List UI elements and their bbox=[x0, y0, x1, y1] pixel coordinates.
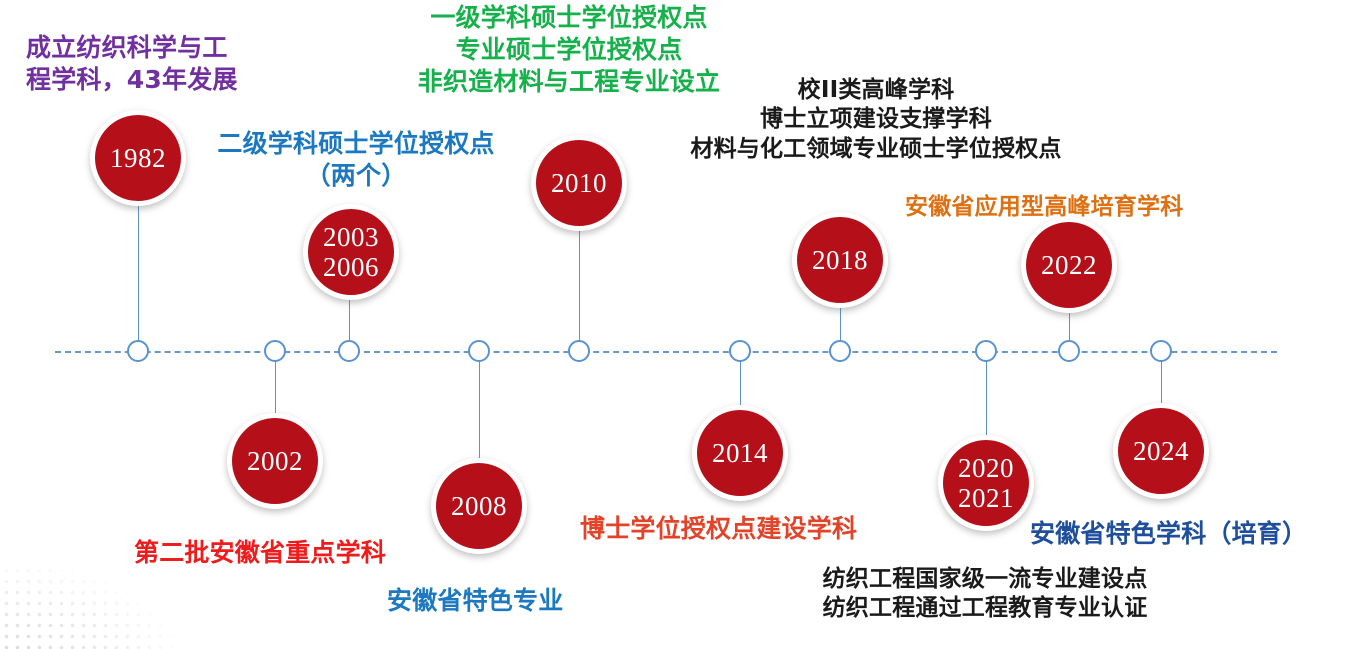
stem-2010 bbox=[579, 231, 580, 341]
milestone-bubble-2020-2021[interactable]: 2020 2021 bbox=[938, 435, 1034, 531]
milestone-bubble-2022[interactable]: 2022 bbox=[1021, 217, 1117, 313]
milestone-bubble-2010[interactable]: 2010 bbox=[531, 135, 627, 231]
timeline-node-1982[interactable] bbox=[127, 340, 149, 362]
year-value: 2010 bbox=[551, 168, 607, 198]
stem-2002 bbox=[275, 361, 276, 413]
year-value: 2018 bbox=[812, 245, 868, 275]
label-national-first-class: 纺织工程国家级一流专业建设点 纺织工程通过工程教育专业认证 bbox=[785, 565, 1185, 624]
timeline-node-2024[interactable] bbox=[1150, 340, 1172, 362]
year-value: 2002 bbox=[247, 446, 303, 476]
timeline-node-2003-2006[interactable] bbox=[338, 340, 360, 362]
label-peak-discipline: 校II类高峰学科 博士立项建设支撑学科 材料与化工领域专业硕士学位授权点 bbox=[636, 76, 1116, 164]
label-featured-discipline: 安徽省特色学科（培育） bbox=[1030, 518, 1347, 550]
stem-2014 bbox=[740, 361, 741, 405]
label-applied-peak: 安徽省应用型高峰培育学科 bbox=[905, 193, 1265, 222]
stem-2018 bbox=[840, 308, 841, 341]
timeline-node-2018[interactable] bbox=[829, 340, 851, 362]
label-featured-major: 安徽省特色专业 bbox=[387, 585, 647, 617]
milestone-bubble-1982[interactable]: 1982 bbox=[90, 110, 186, 206]
milestone-bubble-2003-2006[interactable]: 2003 2006 bbox=[303, 204, 399, 300]
timeline-node-2002[interactable] bbox=[264, 340, 286, 362]
year-value: 2024 bbox=[1133, 436, 1189, 466]
timeline-node-2014[interactable] bbox=[729, 340, 751, 362]
stem-2024 bbox=[1161, 361, 1162, 403]
milestone-bubble-2018[interactable]: 2018 bbox=[792, 212, 888, 308]
timeline-axis bbox=[55, 351, 1277, 353]
stem-1982 bbox=[138, 205, 139, 341]
stem-2003-2006 bbox=[349, 300, 350, 341]
year-value: 2014 bbox=[712, 438, 768, 468]
stem-2020-2021 bbox=[986, 361, 987, 435]
year-value: 2022 bbox=[1041, 250, 1097, 280]
timeline-diagram: 1982 2003 2006 2010 2018 2022 2002 2008 … bbox=[0, 0, 1347, 649]
timeline-node-2020-2021[interactable] bbox=[975, 340, 997, 362]
timeline-node-2008[interactable] bbox=[468, 340, 490, 362]
year-value: 2020 bbox=[958, 453, 1014, 483]
label-founding: 成立纺织科学与工 程学科，43年发展 bbox=[26, 32, 306, 96]
timeline-node-2022[interactable] bbox=[1058, 340, 1080, 362]
year-value: 2021 bbox=[958, 483, 1014, 513]
label-doctoral-construction: 博士学位授权点建设学科 bbox=[580, 513, 920, 545]
label-second-level-master: 二级学科硕士学位授权点 （两个） bbox=[196, 128, 516, 192]
milestone-bubble-2014[interactable]: 2014 bbox=[692, 405, 788, 501]
year-value: 2003 bbox=[323, 222, 379, 252]
year-value: 2006 bbox=[323, 252, 379, 282]
timeline-node-2010[interactable] bbox=[568, 340, 590, 362]
year-value: 1982 bbox=[110, 143, 166, 173]
year-value: 2008 bbox=[451, 491, 507, 521]
label-key-discipline: 第二批安徽省重点学科 bbox=[134, 537, 454, 569]
stem-2022 bbox=[1069, 313, 1070, 341]
stem-2008 bbox=[479, 361, 480, 458]
milestone-bubble-2024[interactable]: 2024 bbox=[1113, 403, 1209, 499]
milestone-bubble-2002[interactable]: 2002 bbox=[227, 413, 323, 509]
